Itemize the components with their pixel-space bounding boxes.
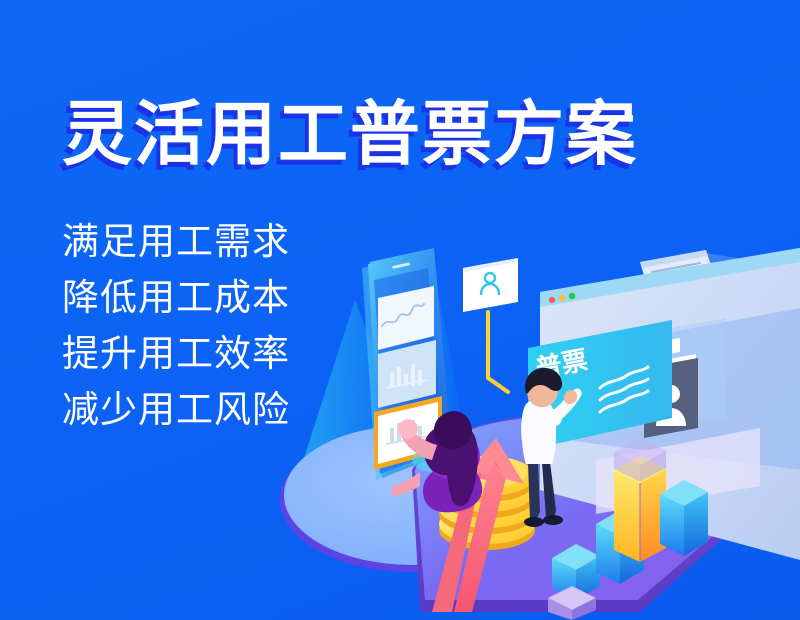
subtitle-line-4: 减少用工风险: [62, 390, 290, 430]
bar-4: [660, 480, 708, 556]
poster-canvas: 普票: [0, 0, 800, 620]
subtitle-line-3: 提升用工效率: [62, 334, 290, 374]
user-badge-card: [463, 258, 518, 312]
subtitle-line-2: 降低用工成本: [62, 278, 290, 318]
subtitle-line-1: 满足用工需求: [62, 222, 290, 262]
page-title: 灵活用工普票方案: [62, 96, 638, 172]
